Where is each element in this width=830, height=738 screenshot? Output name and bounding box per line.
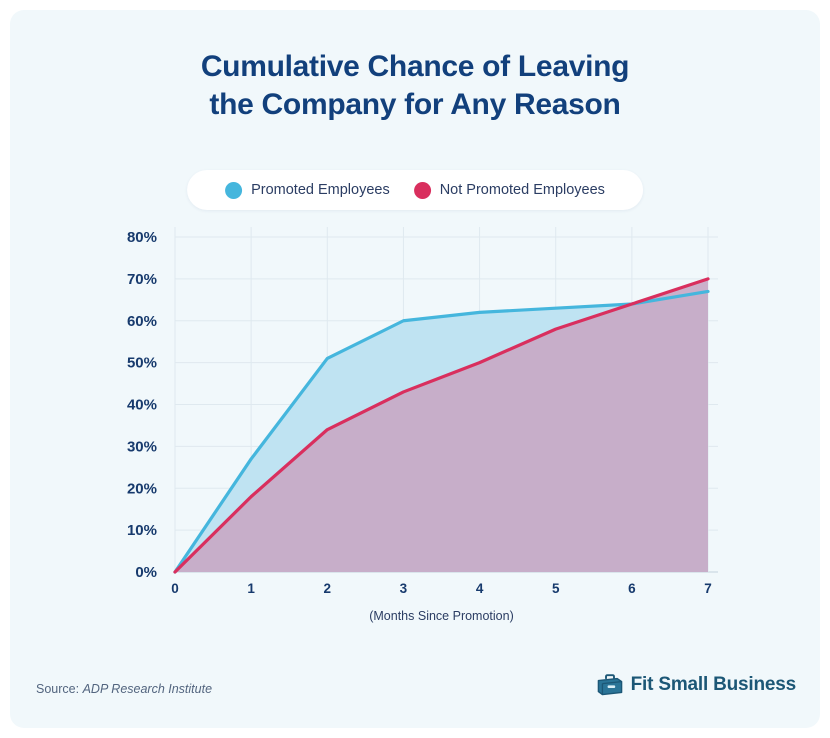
x-axis-tick-label: 5 [552,581,560,596]
source-note: Source: ADP Research Institute [36,682,212,696]
series-areas [175,279,708,572]
y-axis-tick-label: 20% [127,480,157,497]
y-axis-tick-label: 50% [127,355,157,372]
x-axis-tick-label: 4 [476,581,484,596]
x-axis-tick-label: 3 [400,581,408,596]
x-axis-tick-label: 0 [171,581,179,596]
y-axis-tick-label: 40% [127,397,157,414]
y-axis-tick-label: 10% [127,522,157,539]
plot-area: 0%10%20%30%40%50%60%70%80% 01234567 (Mon… [10,10,820,728]
brand-logo: Fit Small Business [597,674,796,696]
x-axis-labels: 01234567 [171,581,712,596]
source-name: ADP Research Institute [83,682,212,696]
y-axis-tick-label: 60% [127,313,157,330]
y-axis-labels: 0%10%20%30%40%50%60%70%80% [127,229,157,581]
chart-card: Cumulative Chance of Leaving the Company… [10,10,820,728]
y-axis-tick-label: 80% [127,229,157,246]
x-axis-tick-label: 7 [704,581,712,596]
x-axis-tick-label: 2 [324,581,332,596]
x-axis-tick-label: 6 [628,581,636,596]
y-axis-tick-label: 0% [135,564,157,581]
brand-name: Fit Small Business [631,674,796,696]
x-axis-tick-label: 1 [247,581,255,596]
y-axis-tick-label: 30% [127,438,157,455]
x-axis-caption: (Months Since Promotion) [369,609,514,623]
source-label: Source: [36,682,79,696]
chart-svg: 0%10%20%30%40%50%60%70%80% 01234567 (Mon… [10,10,820,728]
y-axis-tick-label: 70% [127,271,157,288]
briefcase-icon [597,674,623,696]
